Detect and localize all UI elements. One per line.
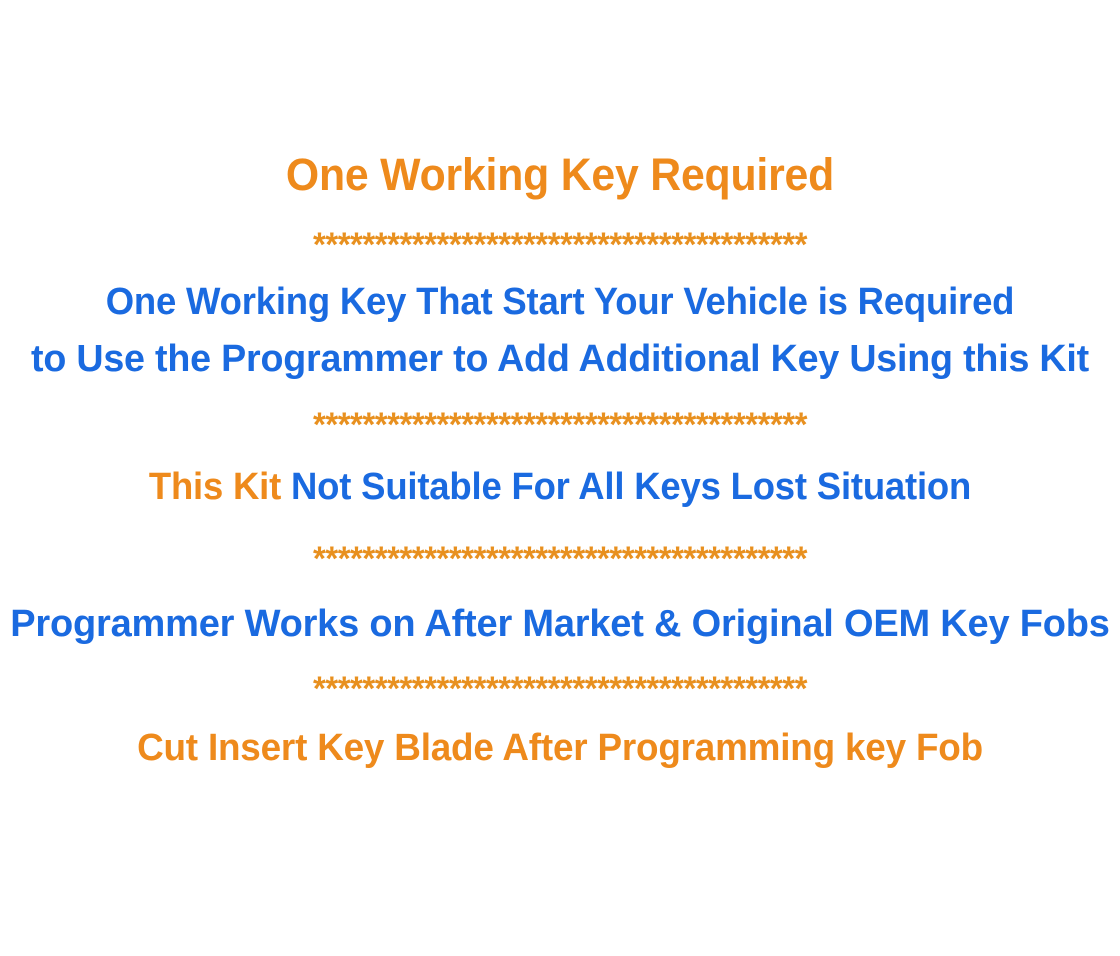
key-programming-notice-panel: One Working Key Required ***************…	[0, 0, 1120, 956]
limitation-emphasis: This Kit	[149, 466, 281, 508]
compatibility-line: Programmer Works on After Market & Origi…	[0, 605, 1120, 643]
limitation-line: This Kit Not Suitable For All Keys Lost …	[22, 468, 1097, 506]
instruction-line: Cut Insert Key Blade After Programming k…	[17, 729, 1103, 767]
limitation-rest: Not Suitable For All Keys Lost Situation	[281, 466, 971, 508]
requirement-line-2: to Use the Programmer to Add Additional …	[6, 340, 1115, 378]
separator-row-1: ****************************************	[17, 228, 1103, 262]
requirement-line-1: One Working Key That Start Your Vehicle …	[22, 283, 1097, 321]
separator-row-2: ****************************************	[17, 408, 1103, 442]
separator-row-4: ****************************************	[17, 672, 1103, 706]
separator-row-3: ****************************************	[17, 542, 1103, 576]
notice-headline: One Working Key Required	[28, 152, 1092, 197]
